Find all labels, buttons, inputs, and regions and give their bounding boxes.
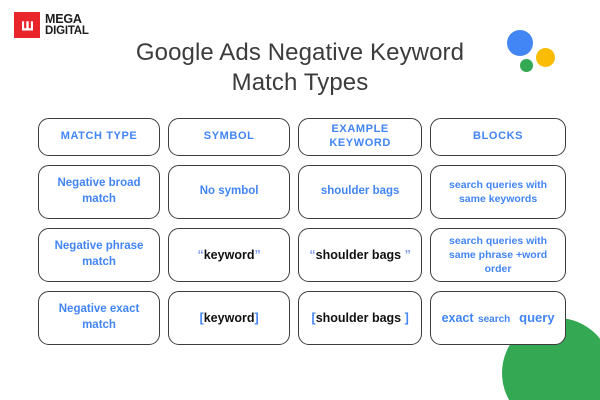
brand-logo: MEGA DIGITAL: [14, 12, 89, 38]
example-keyword-value: [shoulder bags ]: [312, 311, 409, 325]
symbol-core: keyword: [204, 311, 255, 325]
blocks-value: search queries with same phrase +word or…: [437, 234, 559, 277]
cell-blocks: exact search query: [430, 291, 566, 345]
slide-canvas: MEGA DIGITAL Google Ads Negative Keyword…: [0, 0, 600, 400]
cell-example-keyword: “shoulder bags ”: [298, 228, 422, 282]
brand-line-2: DIGITAL: [45, 26, 89, 38]
brand-line-1: MEGA: [45, 13, 89, 26]
header-label: MATCH TYPE: [61, 130, 138, 144]
table-header-row: MATCH TYPE SYMBOL EXAMPLE KEYWORD BLOCKS: [38, 118, 566, 156]
table-header-cell-symbol: SYMBOL: [168, 118, 290, 156]
match-type-label: Negative phrase match: [55, 239, 144, 270]
example-core: shoulder bags: [316, 248, 401, 262]
cell-symbol: “keyword”: [168, 228, 290, 282]
table-header-cell-example-keyword: EXAMPLE KEYWORD: [298, 118, 422, 156]
cell-symbol: [keyword]: [168, 291, 290, 345]
table-row: Negative broad match No symbol shoulder …: [38, 165, 566, 219]
quote-close: ”: [254, 248, 260, 262]
page-title: Google Ads Negative Keyword Match Types: [80, 38, 520, 98]
blocks-value: search queries with same keywords: [449, 178, 547, 206]
symbol-value: [keyword]: [200, 311, 259, 325]
symbol-value: No symbol: [200, 184, 259, 200]
table-row: Negative phrase match “keyword” “shoulde…: [38, 228, 566, 282]
brand-wordmark: MEGA DIGITAL: [45, 13, 89, 37]
blocks-word-2: search: [478, 314, 510, 325]
yellow-circle-icon: [536, 48, 555, 67]
cell-blocks: search queries with same keywords: [430, 165, 566, 219]
table-header-cell-match-type: MATCH TYPE: [38, 118, 160, 156]
bracket-close: ]: [401, 311, 409, 325]
table-row: Negative exact match [keyword] [shoulder…: [38, 291, 566, 345]
cell-example-keyword: [shoulder bags ]: [298, 291, 422, 345]
bracket-close: ]: [254, 311, 258, 325]
symbol-value: “keyword”: [197, 248, 260, 262]
header-label: SYMBOL: [204, 130, 255, 144]
symbol-core: keyword: [204, 248, 255, 262]
example-keyword-value: shoulder bags: [321, 184, 400, 200]
cell-match-type: Negative phrase match: [38, 228, 160, 282]
match-type-label: Negative exact match: [59, 302, 140, 333]
mega-digital-m-icon: [14, 12, 40, 38]
green-circle-icon: [520, 59, 533, 72]
match-type-label: Negative broad match: [57, 176, 140, 207]
example-keyword-value: “shoulder bags ”: [309, 248, 410, 262]
example-core: shoulder bags: [316, 311, 401, 325]
cell-match-type: Negative exact match: [38, 291, 160, 345]
quote-close: ”: [401, 248, 411, 262]
cell-match-type: Negative broad match: [38, 165, 160, 219]
header-label: BLOCKS: [473, 130, 523, 144]
cell-example-keyword: shoulder bags: [298, 165, 422, 219]
cell-symbol: No symbol: [168, 165, 290, 219]
table-header-cell-blocks: BLOCKS: [430, 118, 566, 156]
blocks-word-1: exact: [442, 311, 474, 325]
match-types-table: MATCH TYPE SYMBOL EXAMPLE KEYWORD BLOCKS…: [38, 118, 566, 345]
blocks-value: exact search query: [442, 309, 555, 327]
cell-blocks: search queries with same phrase +word or…: [430, 228, 566, 282]
blocks-word-3: query: [519, 310, 554, 325]
header-label: EXAMPLE KEYWORD: [329, 123, 391, 151]
